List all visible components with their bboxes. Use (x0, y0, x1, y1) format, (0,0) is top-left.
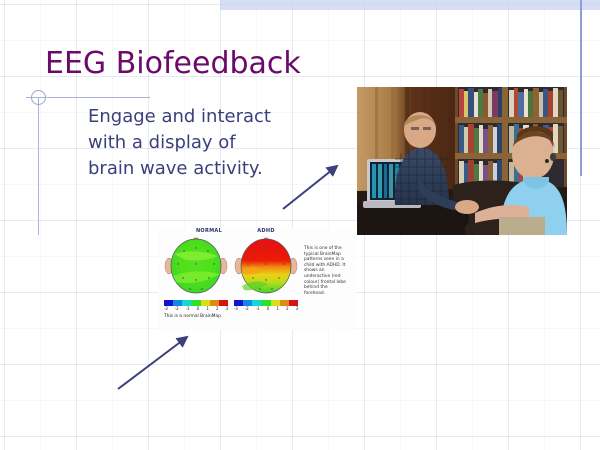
brainmap-normal-head (164, 234, 228, 296)
tick: 3 (226, 306, 228, 311)
tick: -2 (245, 306, 249, 311)
biofeedback-session-photo (357, 87, 567, 235)
tick: 3 (296, 306, 298, 311)
brainmap-normal-ticks: -3 -2 -1 0 1 2 3 (164, 306, 228, 311)
right-vertical-rule (580, 0, 582, 176)
body-line-1: Engage and interact (88, 104, 318, 130)
tick: -3 (164, 306, 168, 311)
slide-canvas: EEG Biofeedback Engage and interact with… (0, 0, 600, 450)
brainmap-adhd-note: This is one of the typical BrainMap patt… (304, 246, 350, 296)
tick: 1 (206, 306, 208, 311)
tick: -1 (256, 306, 260, 311)
books-row-1 (459, 88, 563, 117)
body-line-3: brain wave activity. (88, 156, 318, 182)
arrow-to-brainmap (118, 337, 187, 389)
body-line-2: with a display of (88, 130, 318, 156)
photo-illustration (357, 87, 567, 235)
decorative-vertical-line (38, 97, 39, 235)
top-accent-band (220, 0, 600, 10)
tick: -1 (186, 306, 190, 311)
tick: 2 (286, 306, 288, 311)
page-title: EEG Biofeedback (45, 46, 301, 81)
brainmap-adhd-ticks: -3 -2 -1 0 1 2 3 (234, 306, 298, 311)
body-text-block: Engage and interact with a display of br… (88, 104, 318, 182)
brainmap-adhd-column: ADHD (234, 228, 298, 311)
brainmap-normal-caption: This is a normal BrainMap (164, 314, 254, 319)
brainmap-figure: NORMAL (158, 228, 356, 330)
brainmap-adhd-head (234, 234, 298, 296)
tick: -2 (175, 306, 179, 311)
decorative-circle-marker (31, 90, 46, 105)
tick: -3 (234, 306, 238, 311)
tick: 0 (197, 306, 199, 311)
tick: 2 (216, 306, 218, 311)
tick: 1 (276, 306, 278, 311)
tick: 0 (267, 306, 269, 311)
